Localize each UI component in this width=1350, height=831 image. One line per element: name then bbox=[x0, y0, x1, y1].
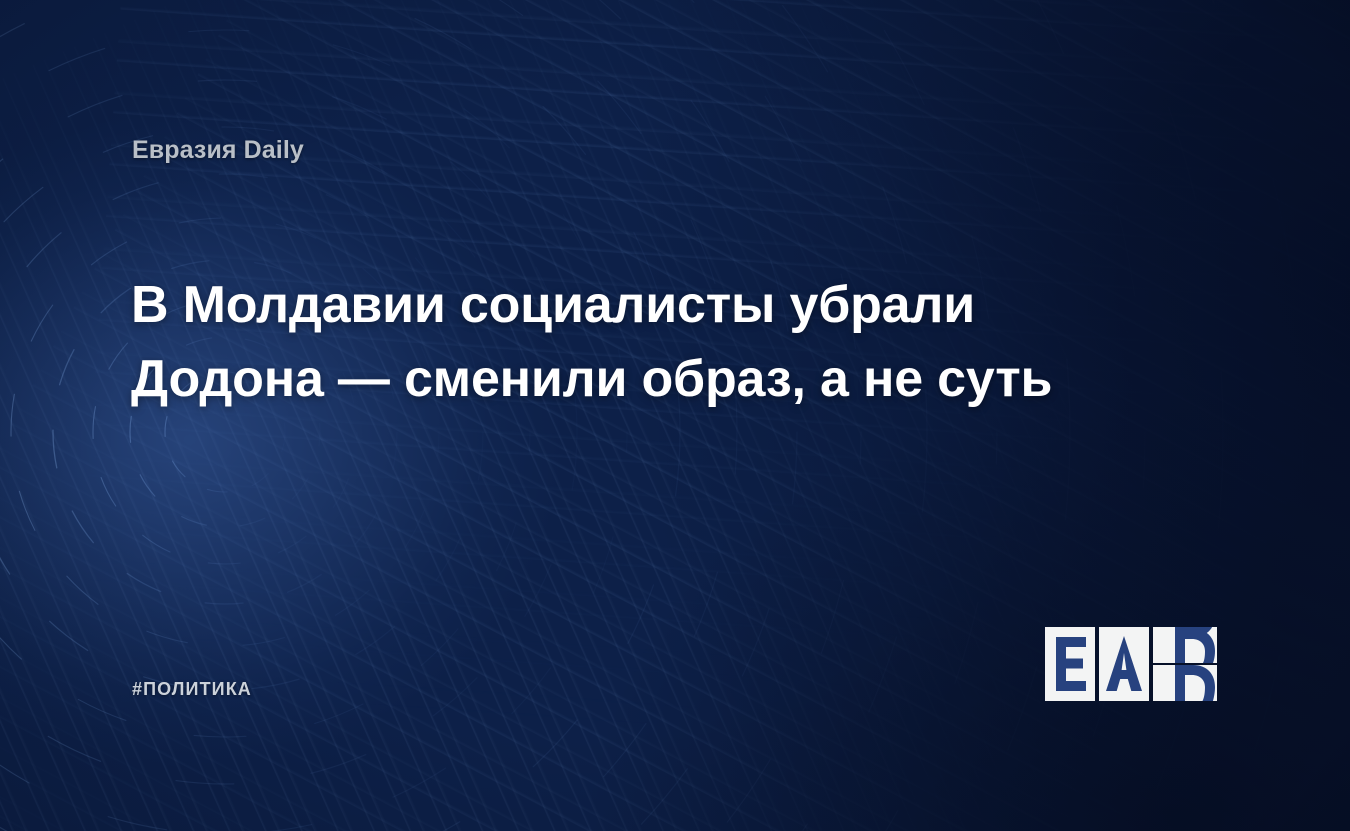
logo-tile-a bbox=[1099, 627, 1149, 701]
brand-title: Евразия Daily bbox=[132, 136, 304, 165]
category-tag[interactable]: #ПОЛИТИКА bbox=[132, 679, 252, 700]
logo-tile-d-top bbox=[1153, 627, 1217, 663]
logo-tile-e bbox=[1045, 627, 1095, 701]
logo-column-d bbox=[1153, 627, 1217, 701]
social-share-card: Евразия Daily В Молдавии социалисты убра… bbox=[0, 0, 1350, 831]
eadaily-logo[interactable] bbox=[1045, 627, 1221, 701]
page-title: В Молдавии социалисты убрали Додона — см… bbox=[131, 268, 1131, 416]
card-content: Евразия Daily В Молдавии социалисты убра… bbox=[0, 0, 1350, 831]
logo-tile-d-bottom bbox=[1153, 665, 1217, 701]
